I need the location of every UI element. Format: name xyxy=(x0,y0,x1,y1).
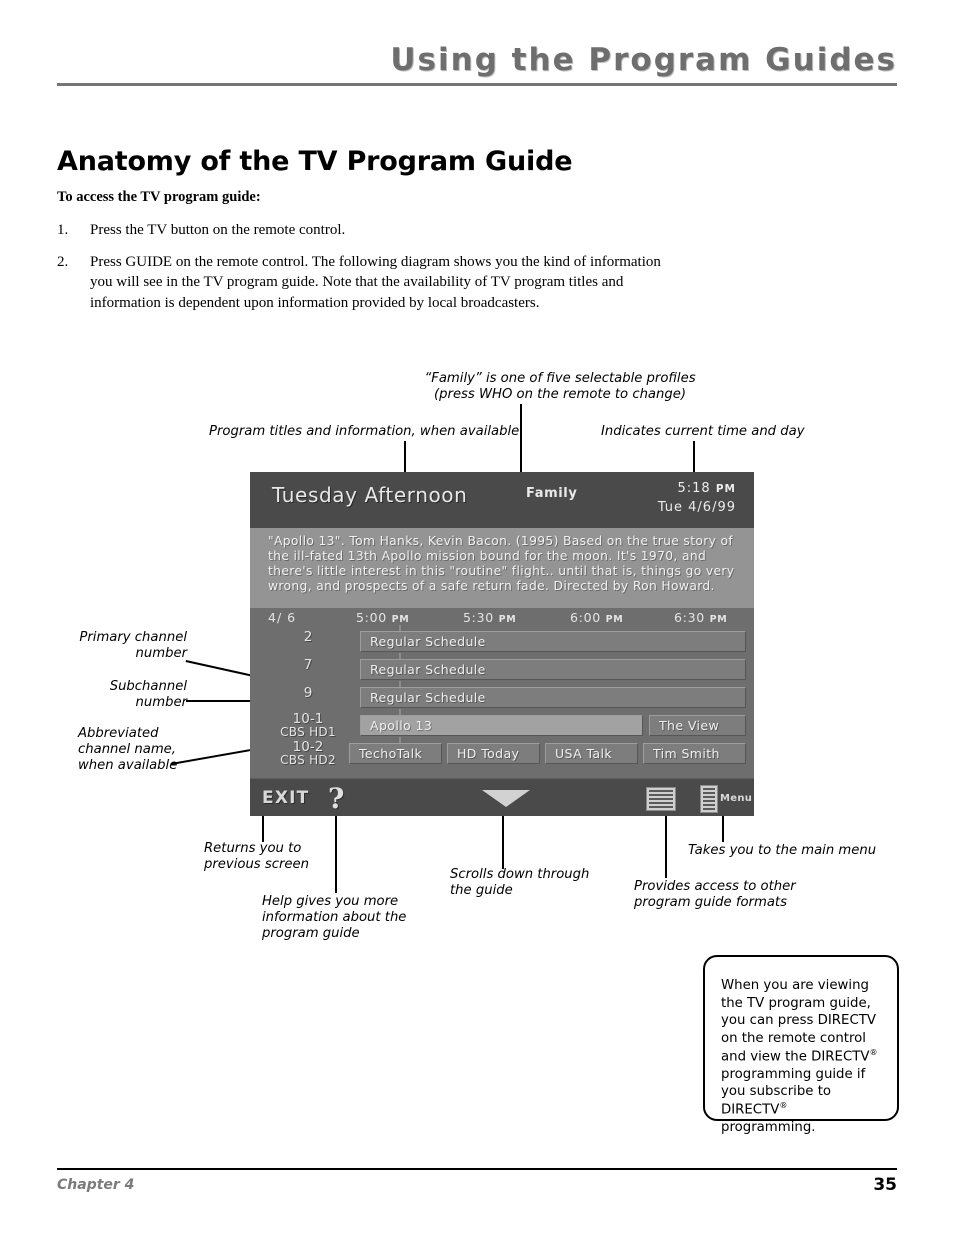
time-slot-label: 6:00 xyxy=(570,610,601,625)
guide-description-panel: "Apollo 13". Tom Hanks, Kevin Bacon. (19… xyxy=(250,528,754,608)
step-number: 2. xyxy=(57,252,68,273)
help-question-mark-icon[interactable]: ? xyxy=(328,782,344,815)
formats-icon-line xyxy=(649,802,673,804)
callout-current-time: Indicates current time and day xyxy=(601,424,861,440)
channel-number: 2 xyxy=(276,631,340,645)
leader-line-exit xyxy=(262,816,264,842)
guide-clock-suffix: PM xyxy=(716,483,736,495)
callout-family-profile: “Family” is one of five selectable profi… xyxy=(410,371,710,403)
menu-icon-line xyxy=(703,792,715,794)
time-slot-1: 5:30 PM xyxy=(463,610,516,625)
callout-abbrev-name: Abbreviated channel name, when available xyxy=(78,726,238,774)
channel-number: 7 xyxy=(276,659,340,673)
formats-icon-line xyxy=(649,794,673,796)
formats-icon-line xyxy=(649,806,673,808)
table-row[interactable]: 9 Regular Schedule xyxy=(250,684,754,712)
footer-rule xyxy=(57,1168,897,1170)
note-text-part1: When you are viewing the TV program guid… xyxy=(721,978,876,1064)
guide-daypart-label: Tuesday Afternoon xyxy=(272,483,467,507)
leader-line-scroll xyxy=(502,816,504,869)
guide-top-bar: Tuesday Afternoon Family 5:18 PM Tue 4/6… xyxy=(250,472,754,528)
guide-grid-date: 4/ 6 xyxy=(268,610,296,625)
program-cell[interactable]: Regular Schedule xyxy=(360,631,746,652)
note-text: When you are viewing the TV program guid… xyxy=(721,977,881,1137)
main-menu-button[interactable]: Menu xyxy=(700,785,754,811)
guide-clock-time-row: 5:18 PM xyxy=(658,480,736,499)
guide-clock-time: 5:18 xyxy=(678,481,711,496)
menu-label: Menu xyxy=(720,793,752,804)
table-row[interactable]: 2 Regular Schedule xyxy=(250,628,754,656)
guide-description-text: "Apollo 13". Tom Hanks, Kevin Bacon. (19… xyxy=(268,534,740,594)
registered-mark: ® xyxy=(869,1048,877,1057)
menu-icon-line xyxy=(703,804,715,806)
formats-icon-line xyxy=(649,790,673,792)
tv-program-guide-screen[interactable]: Tuesday Afternoon Family 5:18 PM Tue 4/6… xyxy=(250,472,754,816)
time-slot-3: 6:30 PM xyxy=(674,610,727,625)
callout-returns-previous: Returns you to previous screen xyxy=(204,841,384,873)
program-cell[interactable]: The View xyxy=(649,715,746,736)
step-text: Press GUIDE on the remote control. The f… xyxy=(90,254,661,311)
page-title: Anatomy of the TV Program Guide xyxy=(57,146,572,177)
program-cell[interactable]: Regular Schedule xyxy=(360,687,746,708)
table-row[interactable]: 10-1 CBS HD1 Apollo 13 The View xyxy=(250,712,754,740)
running-head-title: Using the Program Guides xyxy=(57,44,897,77)
callout-help: Help gives you more information about th… xyxy=(262,894,462,942)
guide-grid: 4/ 6 5:00 PM 5:30 PM 6:00 PM 6:30 PM 2 R… xyxy=(250,608,754,778)
callout-program-titles: Program titles and information, when ava… xyxy=(209,424,539,440)
callout-primary-channel: Primary channel number xyxy=(20,630,187,662)
lead-in-heading: To access the TV program guide: xyxy=(57,189,677,206)
leader-line-main-menu xyxy=(722,816,724,842)
program-cell[interactable]: HD Today xyxy=(447,743,540,764)
menu-icon-line xyxy=(703,800,715,802)
menu-icon-line xyxy=(703,808,715,810)
table-row[interactable]: 10-2 CBS HD2 TechoTalk HD Today USA Talk… xyxy=(250,740,754,768)
channel-number: 10-1 CBS HD1 xyxy=(264,713,352,738)
guide-profile-label[interactable]: Family xyxy=(526,486,577,501)
lead-in-block: To access the TV program guide: 1. Press… xyxy=(57,189,677,325)
guide-clock-date: Tue 4/6/99 xyxy=(658,499,736,518)
page-footer: Chapter 4 35 xyxy=(57,1168,897,1199)
steps-list: 1. Press the TV button on the remote con… xyxy=(57,220,677,314)
table-row[interactable]: 7 Regular Schedule xyxy=(250,656,754,684)
time-slot-suffix: PM xyxy=(392,614,410,625)
menu-icon-line xyxy=(703,788,715,790)
exit-button[interactable]: EXIT xyxy=(262,788,309,808)
callout-other-formats: Provides access to other program guide f… xyxy=(634,879,834,911)
guide-formats-icon[interactable] xyxy=(646,787,676,811)
guide-clock: 5:18 PM Tue 4/6/99 xyxy=(658,480,736,518)
program-cell-selected[interactable]: Apollo 13 xyxy=(360,715,643,736)
program-cell[interactable]: TechoTalk xyxy=(349,743,442,764)
chapter-label: Chapter 4 xyxy=(57,1177,134,1193)
channel-number: 9 xyxy=(276,687,340,701)
time-slot-0: 5:00 PM xyxy=(356,610,409,625)
list-item: 2. Press GUIDE on the remote control. Th… xyxy=(57,252,677,314)
guide-time-header-row: 4/ 6 5:00 PM 5:30 PM 6:00 PM 6:30 PM xyxy=(250,608,754,628)
note-box: When you are viewing the TV program guid… xyxy=(703,955,899,1121)
program-cell[interactable]: Tim Smith xyxy=(643,743,746,764)
channel-number: 10-2 CBS HD2 xyxy=(264,741,352,766)
time-slot-suffix: PM xyxy=(499,614,517,625)
leader-line-program-titles xyxy=(404,441,406,472)
footer-row: Chapter 4 35 xyxy=(57,1177,897,1199)
list-item: 1. Press the TV button on the remote con… xyxy=(57,220,677,241)
time-slot-label: 6:30 xyxy=(674,610,705,625)
note-text-part3: programming. xyxy=(721,1120,816,1135)
menu-icon-line xyxy=(703,796,715,798)
scroll-down-arrow-icon[interactable] xyxy=(482,790,530,807)
step-text: Press the TV button on the remote contro… xyxy=(90,222,345,238)
time-slot-suffix: PM xyxy=(710,614,728,625)
time-slot-2: 6:00 PM xyxy=(570,610,623,625)
program-cell[interactable]: USA Talk xyxy=(545,743,638,764)
leader-line-current-time xyxy=(693,441,695,472)
leader-line-family xyxy=(520,404,522,472)
program-cell[interactable]: Regular Schedule xyxy=(360,659,746,680)
guide-bottom-bar: EXIT ? Menu xyxy=(250,778,754,816)
time-slot-label: 5:30 xyxy=(463,610,494,625)
registered-mark: ® xyxy=(779,1101,787,1110)
step-number: 1. xyxy=(57,220,68,241)
header-rule xyxy=(57,83,897,86)
time-slot-label: 5:00 xyxy=(356,610,387,625)
time-slot-suffix: PM xyxy=(606,614,624,625)
menu-icon xyxy=(700,785,718,813)
leader-line-formats xyxy=(665,816,667,878)
page-header: Using the Program Guides xyxy=(57,44,897,86)
page-number: 35 xyxy=(873,1175,897,1195)
note-text-part2: programming guide if you subscribe to DI… xyxy=(721,1067,865,1118)
formats-icon-line xyxy=(649,798,673,800)
callout-scrolls-down: Scrolls down through the guide xyxy=(450,867,630,899)
callout-subchannel: Subchannel number xyxy=(20,679,187,711)
callout-main-menu: Takes you to the main menu xyxy=(688,843,918,859)
